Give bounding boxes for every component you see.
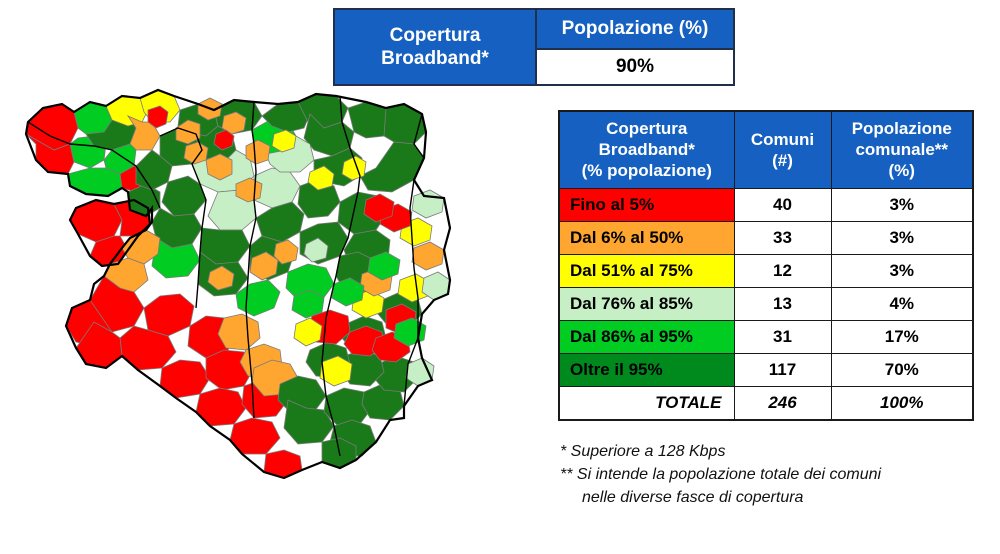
summary-coverage-label: Copertura Broadband* — [335, 10, 537, 84]
row-popolazione-value: 3% — [831, 222, 973, 255]
footnote-2-line1: ** Si intende la popolazione totale dei … — [560, 466, 881, 483]
header-popolazione-line2: comunale** — [855, 140, 948, 159]
footnotes: * Superiore a 128 Kbps ** Si intende la … — [560, 440, 980, 509]
row-band-label: Dal 51% al 75% — [559, 255, 734, 288]
summary-label-line2: Broadband* — [381, 48, 489, 69]
row-popolazione-value: 4% — [831, 288, 973, 321]
table-row: Dal 51% al 75% 12 3% — [559, 255, 973, 288]
summary-label-line1: Copertura — [390, 25, 481, 46]
row-comuni-value: 117 — [734, 354, 831, 387]
row-comuni-value: 33 — [734, 222, 831, 255]
map-municipality-shapes — [26, 90, 450, 478]
footnote-2-line2: nelle diverse fasce di copertura — [560, 486, 980, 509]
row-comuni-value: 31 — [734, 321, 831, 354]
footnote-2: ** Si intende la popolazione totale dei … — [560, 463, 980, 509]
row-popolazione-value: 70% — [831, 354, 973, 387]
row-popolazione-value: 17% — [831, 321, 973, 354]
marche-choropleth-map — [10, 88, 470, 483]
header-comuni-line1: Comuni — [751, 130, 814, 149]
total-popolazione-value: 100% — [831, 387, 973, 421]
total-label: TOTALE — [559, 387, 734, 421]
header-coverage-line2: Broadband* — [599, 140, 695, 159]
header-coverage-line1: Copertura — [606, 119, 687, 138]
broadband-coverage-table: Copertura Broadband* (% popolazione) Com… — [558, 110, 974, 421]
row-comuni-value: 12 — [734, 255, 831, 288]
row-band-label: Dal 6% al 50% — [559, 222, 734, 255]
row-popolazione-value: 3% — [831, 255, 973, 288]
header-coverage: Copertura Broadband* (% popolazione) — [559, 111, 734, 189]
summary-metric: Popolazione (%) 90% — [537, 10, 733, 84]
table-header-row: Copertura Broadband* (% popolazione) Com… — [559, 111, 973, 189]
header-comuni-line2: (#) — [772, 151, 793, 170]
table-row: Fino al 5% 40 3% — [559, 189, 973, 222]
header-popolazione-line1: Popolazione — [852, 119, 952, 138]
row-comuni-value: 40 — [734, 189, 831, 222]
row-band-label: Dal 86% al 95% — [559, 321, 734, 354]
summary-metric-header: Popolazione (%) — [537, 10, 733, 50]
header-coverage-line3: (% popolazione) — [582, 161, 712, 180]
row-popolazione-value: 3% — [831, 189, 973, 222]
row-band-label: Dal 76% al 85% — [559, 288, 734, 321]
table-row: Dal 86% al 95% 31 17% — [559, 321, 973, 354]
table-total-row: TOTALE 246 100% — [559, 387, 973, 421]
header-popolazione-line3: (%) — [889, 161, 915, 180]
table-body: Fino al 5% 40 3% Dal 6% al 50% 33 3% Dal… — [559, 189, 973, 421]
row-comuni-value: 13 — [734, 288, 831, 321]
total-comuni-value: 246 — [734, 387, 831, 421]
header-comuni: Comuni (#) — [734, 111, 831, 189]
header-popolazione: Popolazione comunale** (%) — [831, 111, 973, 189]
table-row: Dal 76% al 85% 13 4% — [559, 288, 973, 321]
map-svg — [10, 88, 470, 483]
row-band-label: Oltre il 95% — [559, 354, 734, 387]
table-row: Dal 6% al 50% 33 3% — [559, 222, 973, 255]
footnote-1: * Superiore a 128 Kbps — [560, 440, 980, 463]
summary-metric-value: 90% — [537, 50, 733, 84]
row-band-label: Fino al 5% — [559, 189, 734, 222]
table-row: Oltre il 95% 117 70% — [559, 354, 973, 387]
broadband-summary-box: Copertura Broadband* Popolazione (%) 90% — [333, 8, 735, 86]
